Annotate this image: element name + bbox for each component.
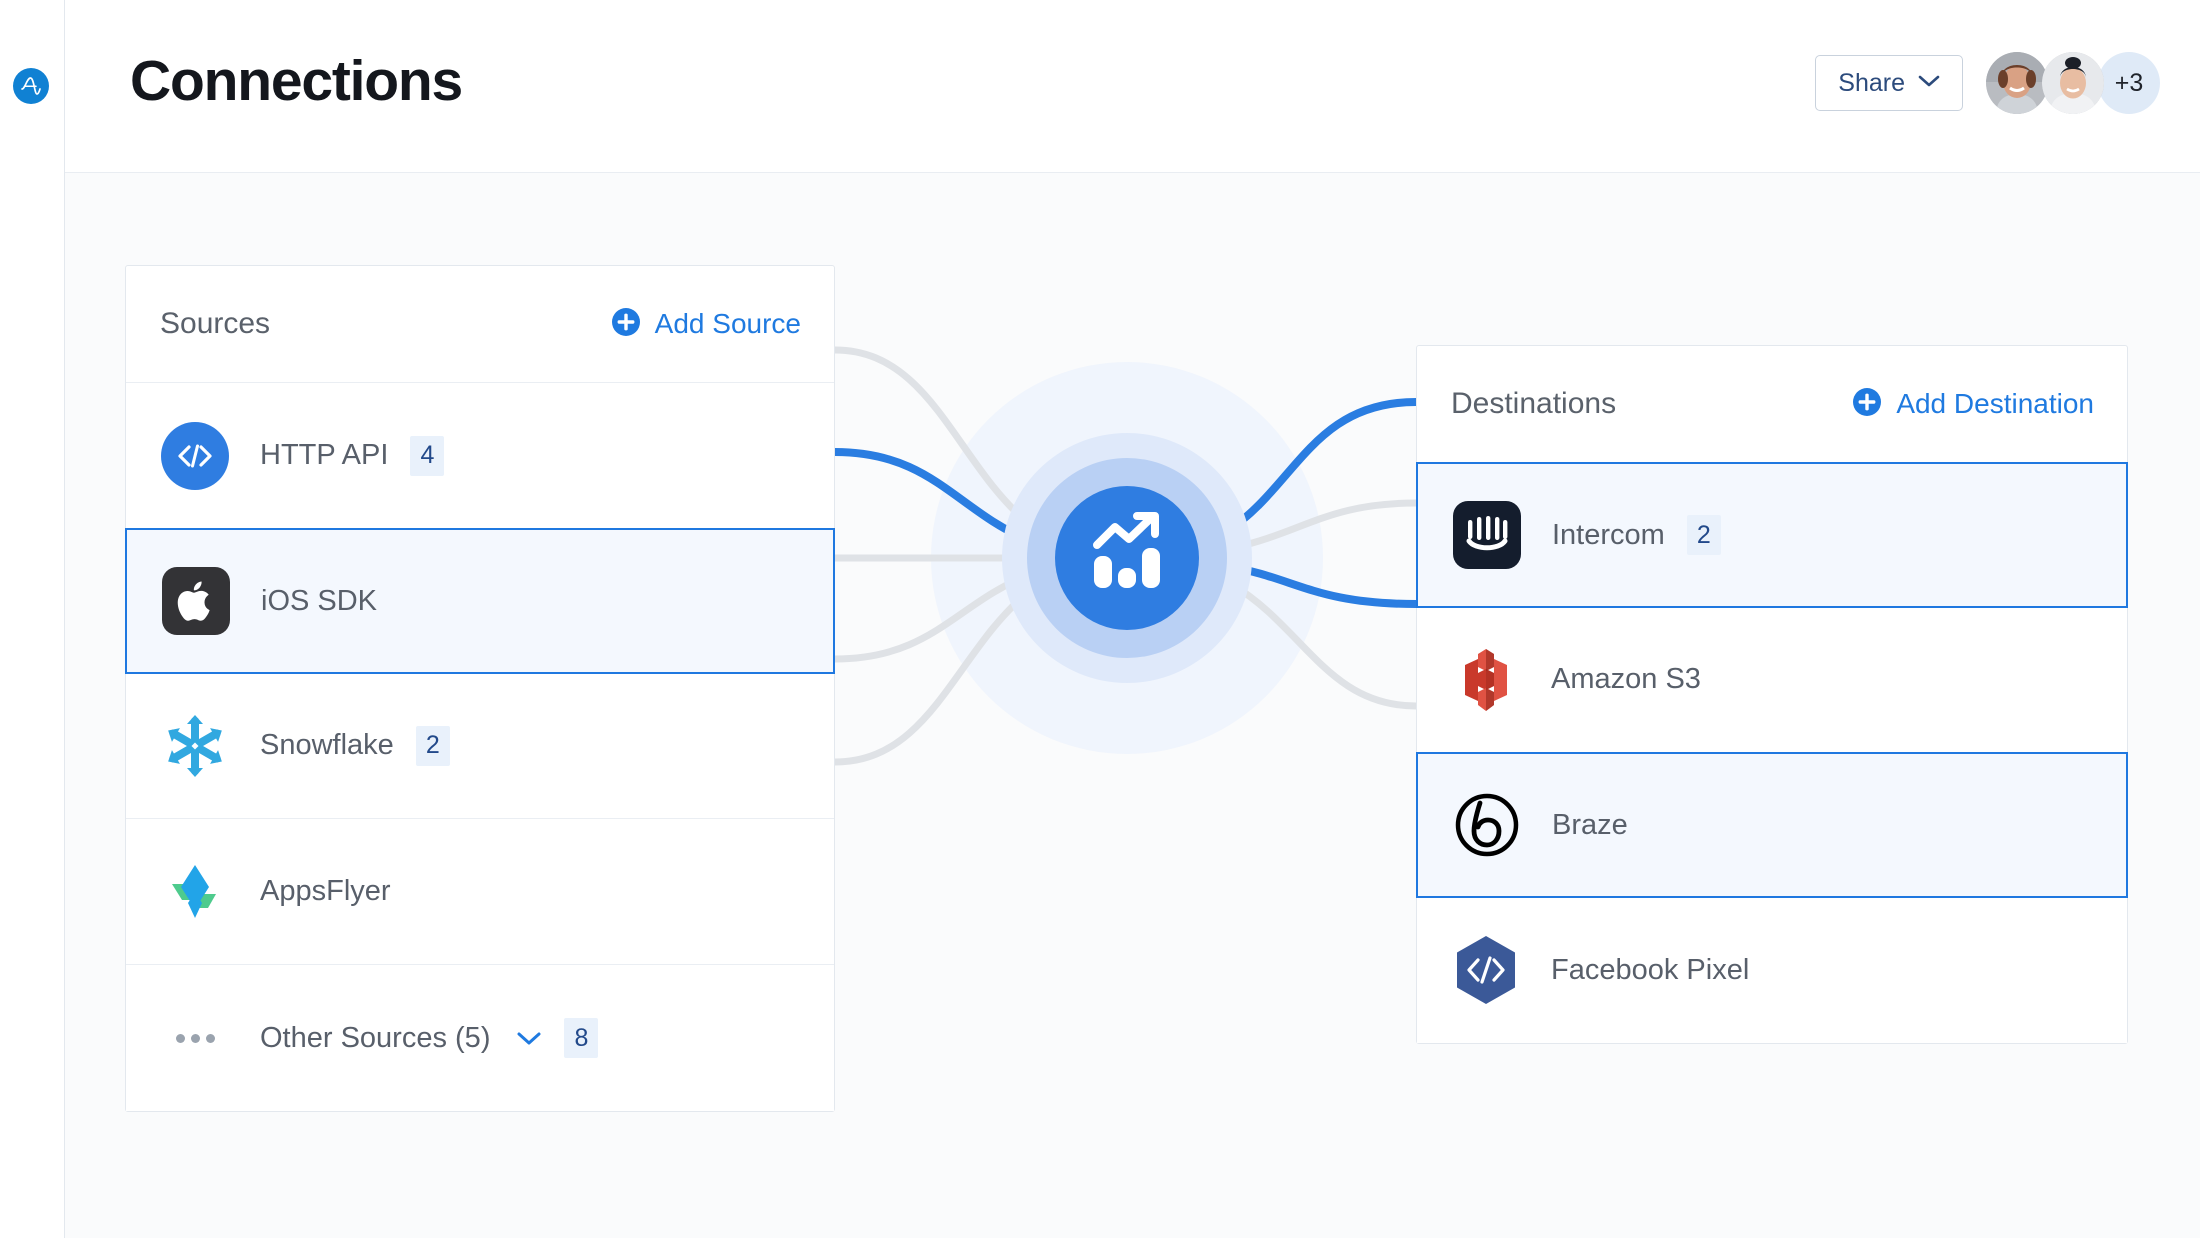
page-title: Connections bbox=[130, 48, 462, 114]
source-label: Snowflake bbox=[260, 729, 394, 762]
plus-circle-icon bbox=[1852, 387, 1882, 422]
sources-panel-title: Sources bbox=[160, 307, 270, 341]
avatar-stack: +3 bbox=[1986, 52, 2160, 114]
destination-label: Facebook Pixel bbox=[1551, 954, 1749, 987]
appsflyer-icon bbox=[159, 856, 231, 928]
page-header: Connections Share bbox=[65, 0, 2200, 173]
snowflake-icon bbox=[159, 710, 231, 782]
other-sources-count-badge: 8 bbox=[564, 1018, 598, 1058]
source-label: HTTP API bbox=[260, 439, 388, 472]
avatar-image-1 bbox=[1986, 52, 2048, 114]
source-row-snowflake[interactable]: Snowflake 2 bbox=[126, 673, 834, 819]
destination-label: Braze bbox=[1552, 809, 1628, 842]
add-destination-button[interactable]: Add Destination bbox=[1852, 387, 2094, 422]
plus-circle-icon bbox=[611, 307, 641, 342]
source-label: AppsFlyer bbox=[260, 875, 391, 908]
header-actions: Share bbox=[1815, 52, 2160, 114]
destinations-panel-header: Destinations Add Destination bbox=[1417, 346, 2127, 463]
hub-circle bbox=[1055, 486, 1199, 630]
share-button-label: Share bbox=[1838, 69, 1905, 98]
sources-panel-header: Sources Add Source bbox=[126, 266, 834, 383]
source-row-other-sources[interactable]: Other Sources (5) 8 bbox=[126, 965, 834, 1111]
source-label: iOS SDK bbox=[261, 585, 377, 618]
destination-label: Intercom bbox=[1552, 519, 1665, 552]
share-button[interactable]: Share bbox=[1815, 55, 1963, 111]
add-source-button[interactable]: Add Source bbox=[611, 307, 801, 342]
destinations-panel: Destinations Add Destination bbox=[1416, 345, 2128, 1044]
source-row-appsflyer[interactable]: AppsFlyer bbox=[126, 819, 834, 965]
destination-row-intercom[interactable]: Intercom 2 bbox=[1416, 462, 2128, 608]
destination-count-badge: 2 bbox=[1687, 515, 1721, 555]
amplitude-logo-glyph bbox=[19, 74, 43, 98]
destination-row-facebook-pixel[interactable]: Facebook Pixel bbox=[1417, 897, 2127, 1043]
source-count-badge: 2 bbox=[416, 726, 450, 766]
avatar[interactable] bbox=[2042, 52, 2104, 114]
amazon-s3-icon bbox=[1450, 644, 1522, 716]
amplitude-logo-icon[interactable] bbox=[13, 68, 49, 104]
source-row-http-api[interactable]: HTTP API 4 bbox=[126, 383, 834, 529]
connections-canvas: Sources Add Source bbox=[65, 173, 2200, 1238]
destinations-panel-title: Destinations bbox=[1451, 387, 1616, 421]
destination-row-amazon-s3[interactable]: Amazon S3 bbox=[1417, 607, 2127, 753]
braze-icon bbox=[1451, 789, 1523, 861]
avatar[interactable] bbox=[1986, 52, 2048, 114]
add-destination-label: Add Destination bbox=[1896, 388, 2094, 420]
intercom-icon bbox=[1451, 499, 1523, 571]
http-api-icon bbox=[159, 420, 231, 492]
sources-panel: Sources Add Source bbox=[125, 265, 835, 1112]
avatar-overflow-count[interactable]: +3 bbox=[2098, 52, 2160, 114]
other-sources-label: Other Sources (5) bbox=[260, 1022, 490, 1055]
destination-label: Amazon S3 bbox=[1551, 663, 1701, 696]
avatar-image-2 bbox=[2042, 52, 2104, 114]
apple-icon bbox=[160, 565, 232, 637]
source-count-badge: 4 bbox=[410, 436, 444, 476]
source-row-ios-sdk[interactable]: iOS SDK bbox=[125, 528, 835, 674]
left-nav-rail bbox=[0, 0, 65, 1238]
destination-row-braze[interactable]: Braze bbox=[1416, 752, 2128, 898]
chevron-down-icon[interactable] bbox=[516, 1030, 542, 1046]
chevron-down-icon bbox=[1918, 74, 1940, 93]
ellipsis-icon bbox=[159, 1034, 231, 1043]
facebook-pixel-icon bbox=[1450, 934, 1522, 1006]
add-source-label: Add Source bbox=[655, 308, 801, 340]
